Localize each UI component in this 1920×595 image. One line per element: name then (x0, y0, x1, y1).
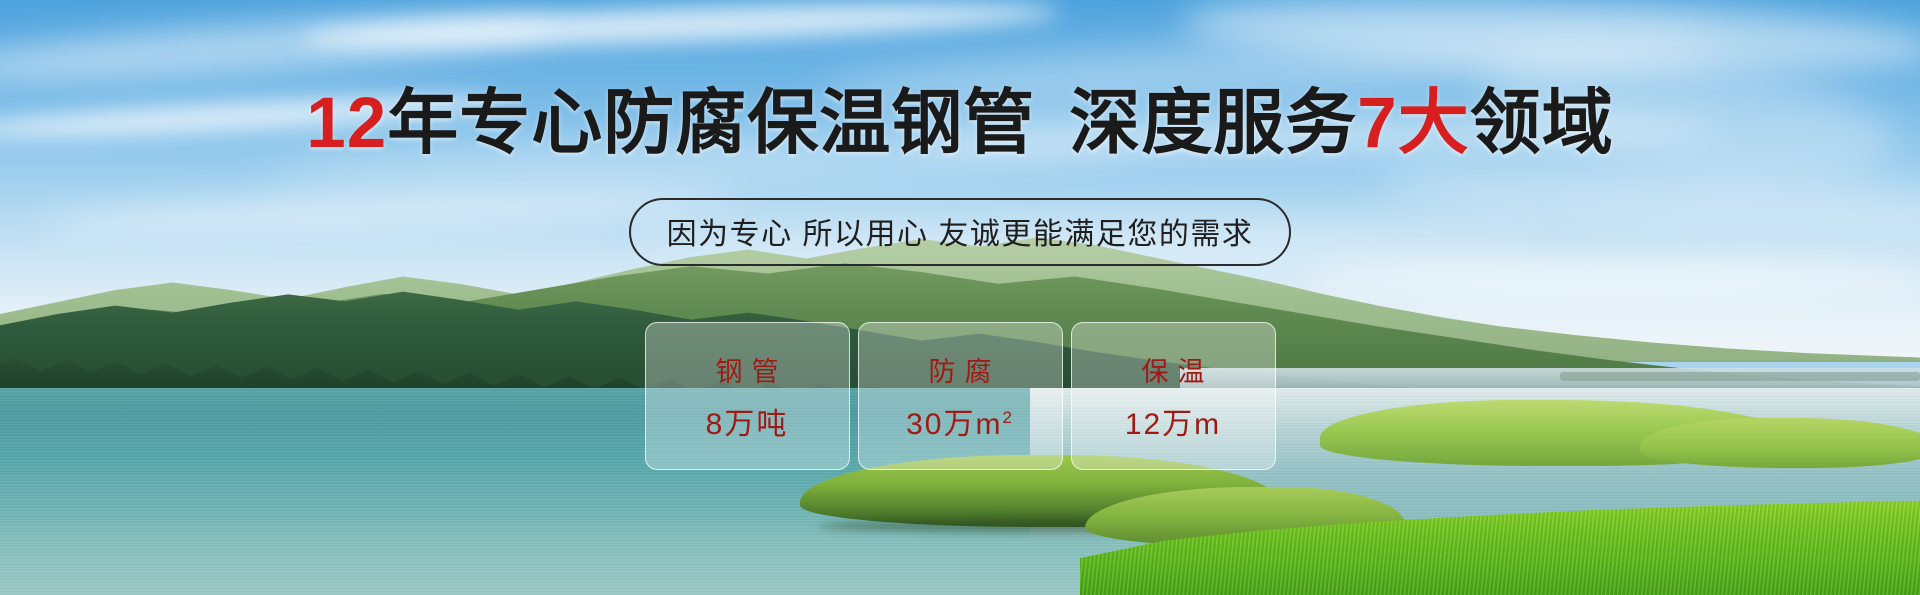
hero-banner: 12年专心防腐保温钢管深度服务7大领域 因为专心 所以用心 友诚更能满足您的需求… (0, 0, 1920, 595)
headline-fields-number: 7大 (1357, 84, 1470, 163)
stat-card-value-superscript: 2 (1002, 408, 1013, 427)
stat-card-insulation[interactable]: 保温 12万m (1071, 322, 1276, 470)
stat-card-label: 保温 (1133, 350, 1214, 389)
stat-card-label: 钢管 (707, 350, 788, 389)
stat-card-value: 30万m2 (906, 399, 1014, 443)
stat-card-group: 钢管 8万吨 防腐 30万m2 保温 12万m (0, 322, 1920, 470)
stat-card-value: 8万吨 (706, 399, 789, 443)
stat-card-steel-pipe[interactable]: 钢管 8万吨 (645, 322, 850, 470)
headline-years-number: 12 (306, 84, 387, 163)
banner-headline: 12年专心防腐保温钢管深度服务7大领域 (0, 88, 1920, 159)
banner-subtitle-wrap: 因为专心 所以用心 友诚更能满足您的需求 (0, 198, 1920, 266)
stat-card-value-text: 30万m (906, 408, 1002, 441)
banner-subtitle: 因为专心 所以用心 友诚更能满足您的需求 (629, 198, 1292, 266)
headline-right-pre: 深度服务 (1069, 84, 1357, 163)
stat-card-value: 12万m (1125, 399, 1221, 443)
stat-card-value-text: 12万m (1125, 408, 1221, 441)
stat-card-anticorrosion[interactable]: 防腐 30万m2 (858, 322, 1063, 470)
headline-right-post: 领域 (1470, 84, 1614, 163)
headline-left-text: 年专心防腐保温钢管 (387, 84, 1035, 163)
stat-card-label: 防腐 (920, 350, 1001, 389)
stat-card-value-text: 8万吨 (706, 408, 789, 441)
